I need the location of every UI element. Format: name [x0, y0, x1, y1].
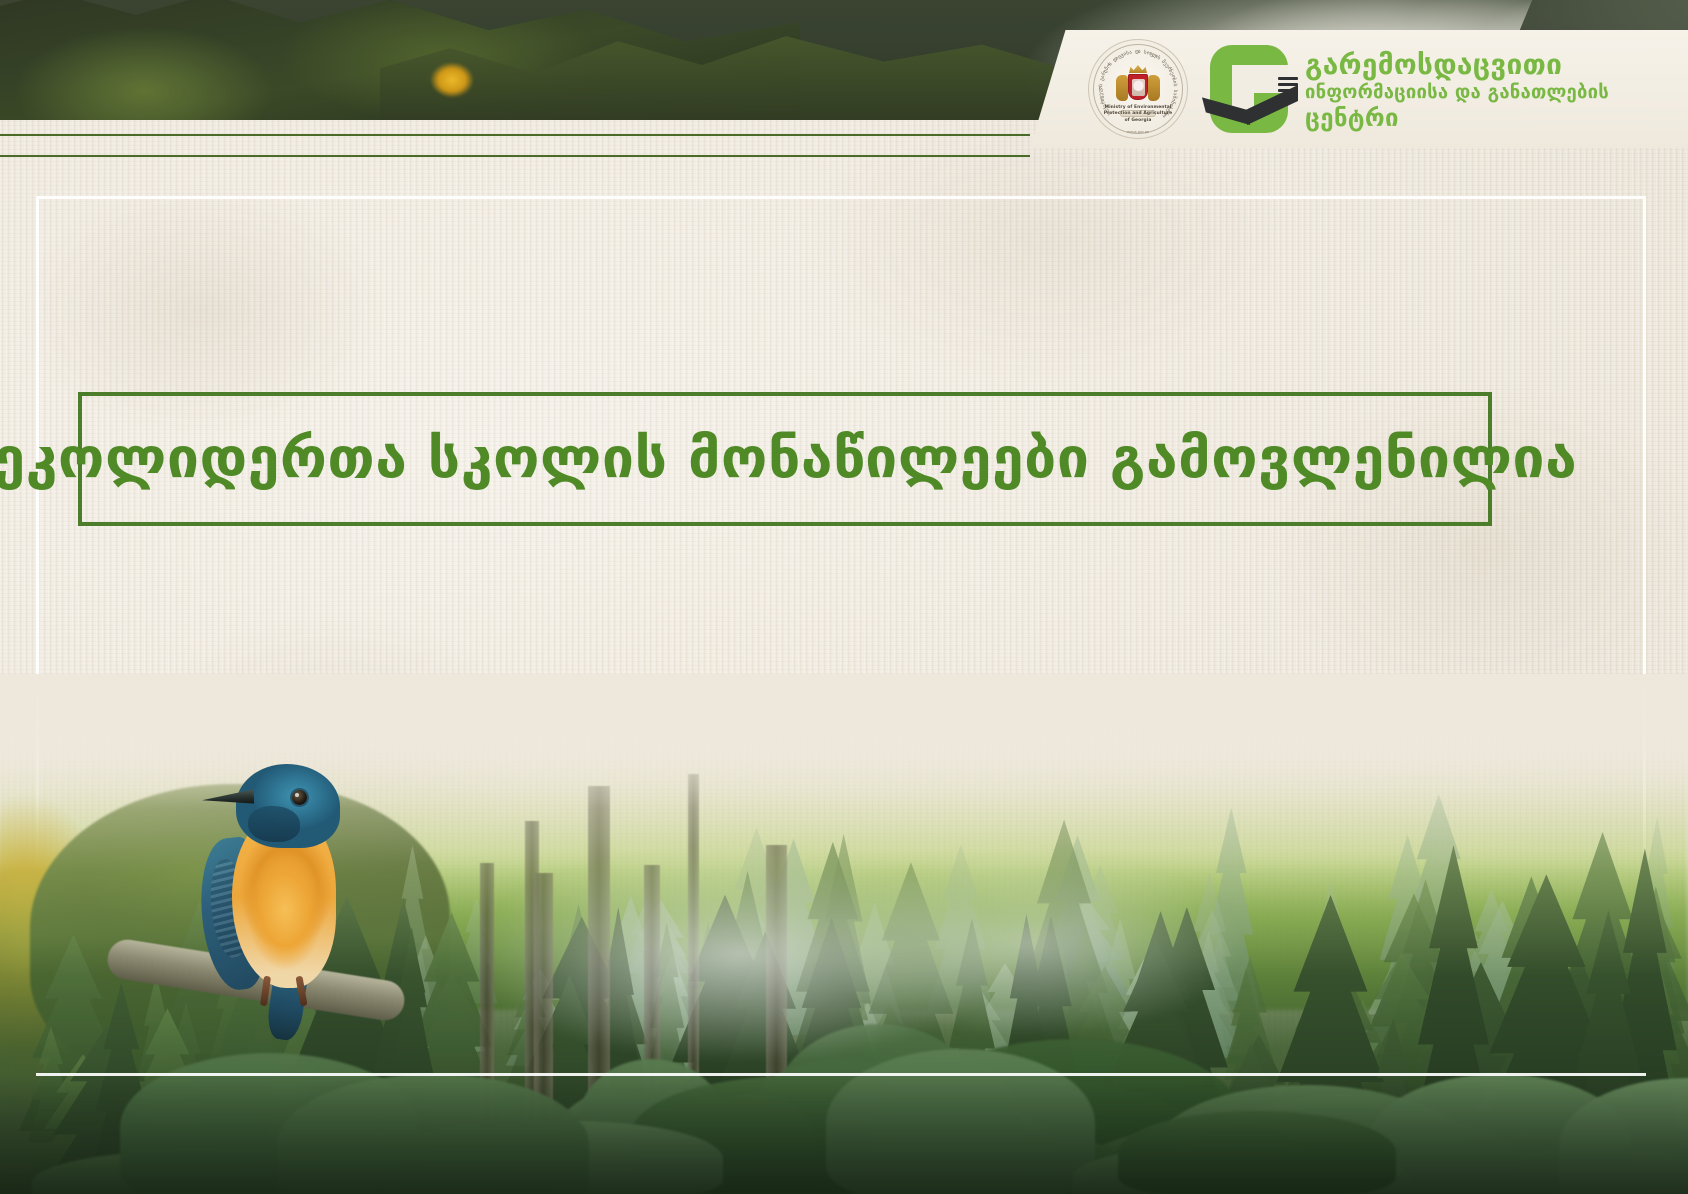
seal-english-line-3: of Georgia: [1089, 118, 1187, 124]
eiec-line-1: გარემოსდაცვითი: [1305, 51, 1609, 79]
eiec-line-2: ინფორმაციისა და განათლების: [1305, 81, 1609, 104]
ministry-seal-icon: საქართველოს გარემოს დაცვისა და სოფლის მე…: [1088, 39, 1188, 139]
header-rule-bottom: [0, 155, 1030, 157]
shield-icon: [1128, 74, 1148, 100]
foreground-shrub: [1118, 1111, 1396, 1194]
eiec-logo-mark-icon: [1206, 43, 1292, 135]
bird-illustration: [196, 754, 384, 1024]
header-rule-top: [0, 134, 1030, 136]
logo-bars-icon: [1278, 77, 1298, 93]
page-title: ეკოლიდერთა სკოლის მონაწილეები გამოვლენილ…: [0, 431, 1577, 487]
seal-english-text: Ministry of Environmental Protection and…: [1089, 105, 1187, 124]
eiec-logo-text: გარემოსდაცვითი ინფორმაციისა და განათლები…: [1305, 47, 1609, 132]
eiec-line-3: ცენტრი: [1305, 105, 1609, 131]
logo-green-notch-vertical: [1232, 65, 1254, 113]
title-box: ეკოლიდერთა სკოლის მონაწილეები გამოვლენილ…: [78, 392, 1492, 526]
bird-breast: [246, 850, 324, 970]
lion-supporter-left-icon: [1116, 75, 1128, 101]
bird-cheek: [248, 806, 300, 842]
lion-supporter-right-icon: [1148, 75, 1160, 101]
eiec-logo: გარემოსდაცვითი ინფორმაციისა და განათლები…: [1206, 43, 1609, 135]
frame-bottom-edge: [36, 1073, 1646, 1076]
logo-row: საქართველოს გარემოს დაცვისა და სოფლის მე…: [1030, 30, 1688, 148]
poster-canvas: საქართველოს გარემოს დაცვისა და სოფლის მე…: [0, 0, 1688, 1194]
forest-mist: [380, 824, 1280, 1084]
seal-url: mepa.gov.ge: [1089, 130, 1187, 134]
bird-eye: [292, 790, 307, 805]
